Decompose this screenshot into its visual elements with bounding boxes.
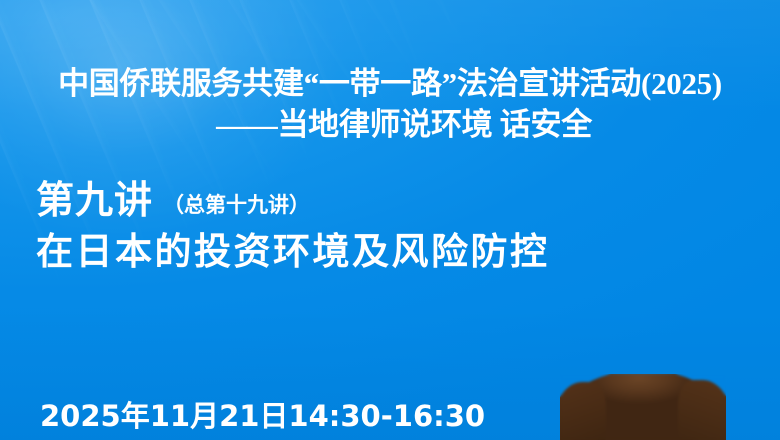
lecture-number: 第九讲	[36, 178, 153, 224]
event-datetime: 2025年11月21日14:30-16:30	[40, 398, 485, 434]
poster-content: 中国侨联服务共建“一带一路”法治宣讲活动(2025) ——当地律师说环境 话安全…	[0, 0, 780, 440]
webinar-poster: 中国侨联服务共建“一带一路”法治宣讲活动(2025) ——当地律师说环境 话安全…	[0, 0, 780, 440]
lecture-heading: 第九讲 （总第十九讲） 在日本的投资环境及风险防控	[36, 178, 550, 276]
event-title-line-2: ——当地律师说环境 话安全	[0, 104, 780, 146]
lecture-total-number: （总第十九讲）	[163, 190, 310, 220]
lecture-topic: 在日本的投资环境及风险防控	[36, 230, 550, 276]
event-title-line-1: 中国侨联服务共建“一带一路”法治宣讲活动(2025)	[0, 64, 780, 104]
event-title: 中国侨联服务共建“一带一路”法治宣讲活动(2025) ——当地律师说环境 话安全	[0, 64, 780, 146]
lecture-number-row: 第九讲 （总第十九讲）	[36, 178, 550, 224]
